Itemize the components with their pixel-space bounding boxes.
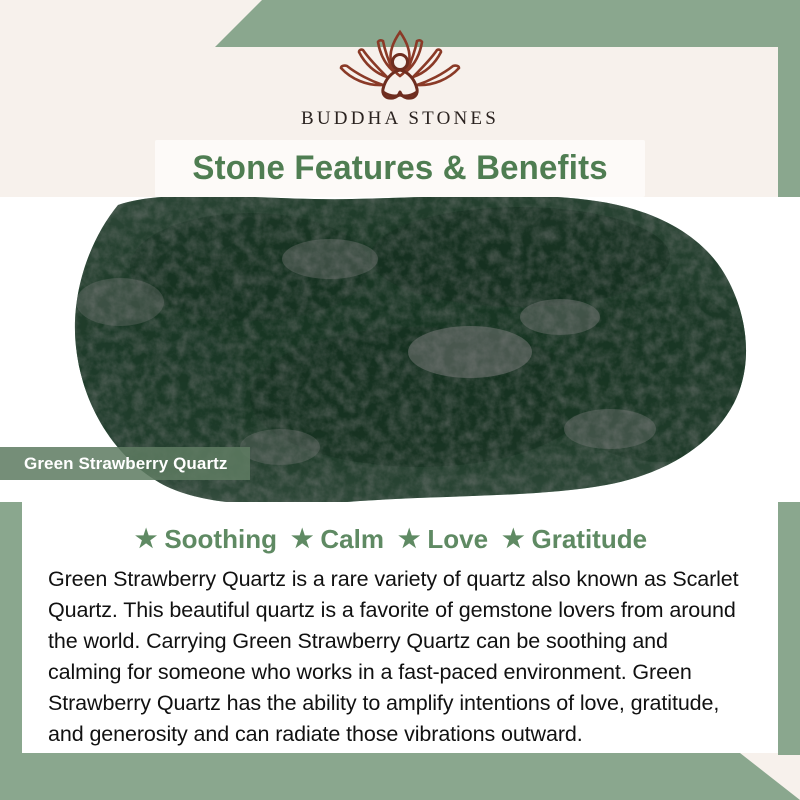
keyword-item: ★ Love [384,524,488,555]
infographic-page: BUDDHA STONES Stone Features & Benefits [0,0,800,800]
title-band: Stone Features & Benefits [155,140,645,197]
star-icon: ★ [502,527,524,552]
keyword-label: Love [427,524,488,555]
keyword-item: ★ Gratitude [488,524,647,555]
keyword-list: ★ Soothing ★ Calm ★ Love ★ Gratitude [32,524,750,555]
star-icon: ★ [398,527,420,552]
keyword-label: Calm [320,524,384,555]
keyword-item: ★ Soothing [135,524,277,555]
description-paragraph: Green Strawberry Quartz is a rare variet… [32,564,750,750]
lotus-meditation-icon [325,26,475,104]
keyword-label: Soothing [164,524,277,555]
content-panel: ★ Soothing ★ Calm ★ Love ★ Gratitude Gre… [22,502,778,753]
stone-photo: Green Strawberry Quartz [0,197,800,502]
keyword-item: ★ Calm [277,524,384,555]
brand-header: BUDDHA STONES [0,0,800,143]
photo-caption: Green Strawberry Quartz [0,447,250,480]
star-icon: ★ [135,527,157,552]
frame-accent-bottom [0,753,800,800]
keyword-label: Gratitude [532,524,648,555]
brand-name: BUDDHA STONES [301,108,499,130]
star-icon: ★ [291,527,313,552]
page-title: Stone Features & Benefits [192,149,607,188]
